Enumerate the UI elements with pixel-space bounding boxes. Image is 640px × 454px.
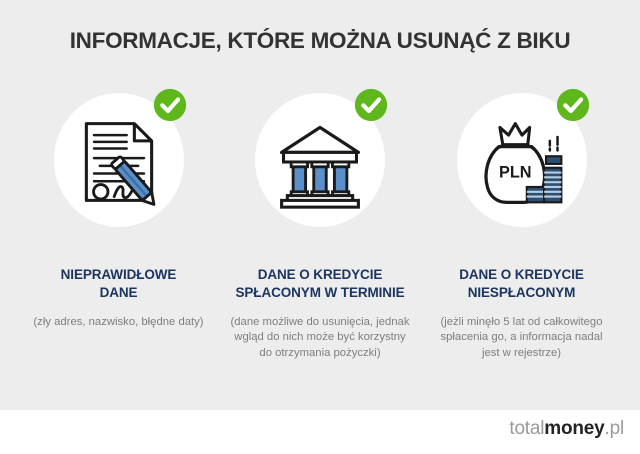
money-bag-label: PLN — [498, 163, 531, 181]
column-heading: DANE O KREDYCIE SPŁACONYM W TERMINIE — [222, 266, 418, 302]
green-check-badge-icon — [153, 88, 187, 122]
infographic-root: INFORMACJE, KTÓRE MOŻNA USUNĄĆ Z BIKU — [0, 0, 640, 454]
icon-wrap-3: PLN — [448, 88, 596, 236]
icon-wrap-1 — [45, 88, 193, 236]
column-subtitle: (jeżli minęło 5 lat od całkowitego spłac… — [438, 315, 606, 362]
icon-wrap-2 — [246, 88, 394, 236]
column-incorrect-data: NIEPRAWIDŁOWE DANE (zły adres, nazwisko,… — [18, 88, 219, 330]
column-heading: NIEPRAWIDŁOWE DANE — [44, 266, 194, 302]
signed-document-with-pen-icon — [71, 114, 167, 210]
logo-part-tld: .pl — [605, 418, 624, 439]
column-unpaid-credit: PLN — [421, 88, 622, 362]
footer-bar: totalmoney.pl — [0, 410, 640, 454]
totalmoney-logo[interactable]: totalmoney.pl — [509, 418, 624, 440]
bank-building-icon — [272, 114, 368, 210]
money-bag-with-coins-icon: PLN — [474, 114, 570, 210]
column-subtitle: (dane możliwe do usunięcia, jednak wgląd… — [227, 315, 413, 362]
green-check-badge-icon — [354, 88, 388, 122]
column-subtitle: (zły adres, nazwisko, błędne daty) — [33, 315, 203, 331]
logo-part-money: money — [544, 418, 604, 439]
logo-part-total: total — [509, 418, 544, 439]
page-title: INFORMACJE, KTÓRE MOŻNA USUNĄĆ Z BIKU — [0, 28, 640, 54]
column-repaid-credit: DANE O KREDYCIE SPŁACONYM W TERMINIE (da… — [220, 88, 421, 362]
column-heading: DANE O KREDYCIE NIESPŁACONYM — [442, 266, 602, 302]
columns-container: NIEPRAWIDŁOWE DANE (zły adres, nazwisko,… — [0, 88, 640, 362]
green-check-badge-icon — [556, 88, 590, 122]
